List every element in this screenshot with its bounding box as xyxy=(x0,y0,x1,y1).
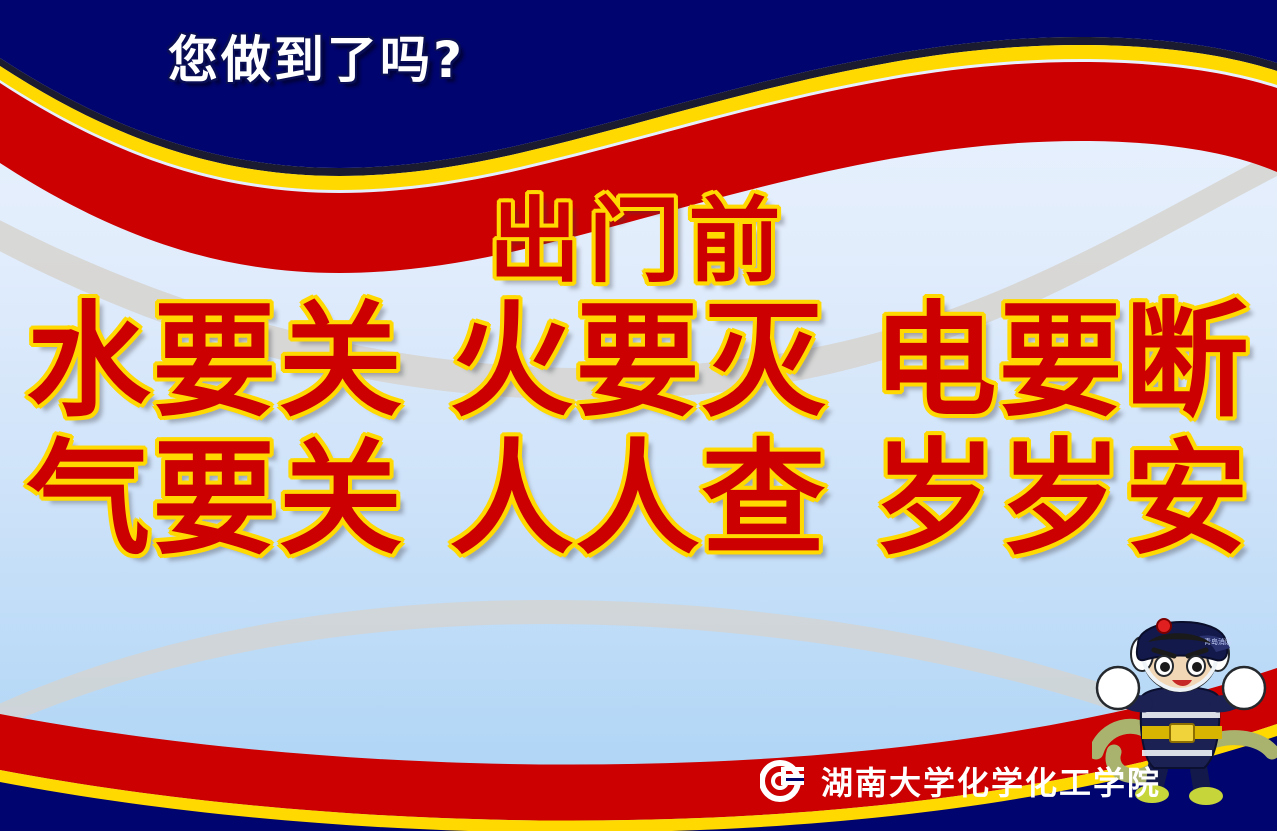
background-decoration xyxy=(0,0,1277,831)
logo-gap xyxy=(786,778,804,781)
mascot-helmet-badge xyxy=(1157,619,1171,633)
mascot-fist-right xyxy=(1223,667,1265,709)
mascot-boot-right xyxy=(1189,787,1223,805)
hunan-university-logo-icon xyxy=(760,758,806,804)
organization-name: 湖南大学化学化工学院 xyxy=(821,758,1161,804)
mascot-belt-buckle xyxy=(1170,724,1194,742)
mascot-stripe-1 xyxy=(1142,712,1220,718)
page-title: 您做到了吗? xyxy=(168,33,465,87)
logo-bar-1 xyxy=(784,767,804,771)
mascot-stripe-2 xyxy=(1142,750,1212,756)
mascot-hose-right xyxy=(1216,738,1272,752)
logo-bar-2 xyxy=(784,774,804,778)
mascot-fist-left xyxy=(1097,667,1139,709)
footer-brand: 湖南大学化学化工学院 xyxy=(760,758,1161,804)
logo-bar-3 xyxy=(784,781,804,785)
mascot-pupil-right xyxy=(1192,662,1202,672)
logo-bar-stem xyxy=(781,767,786,785)
fire-safety-poster: 您做到了吗? 出门前 水要关 火要灭 电要断 气要关 人人查 岁岁安 xyxy=(0,0,1277,831)
mascot-pupil-left xyxy=(1160,662,1170,672)
